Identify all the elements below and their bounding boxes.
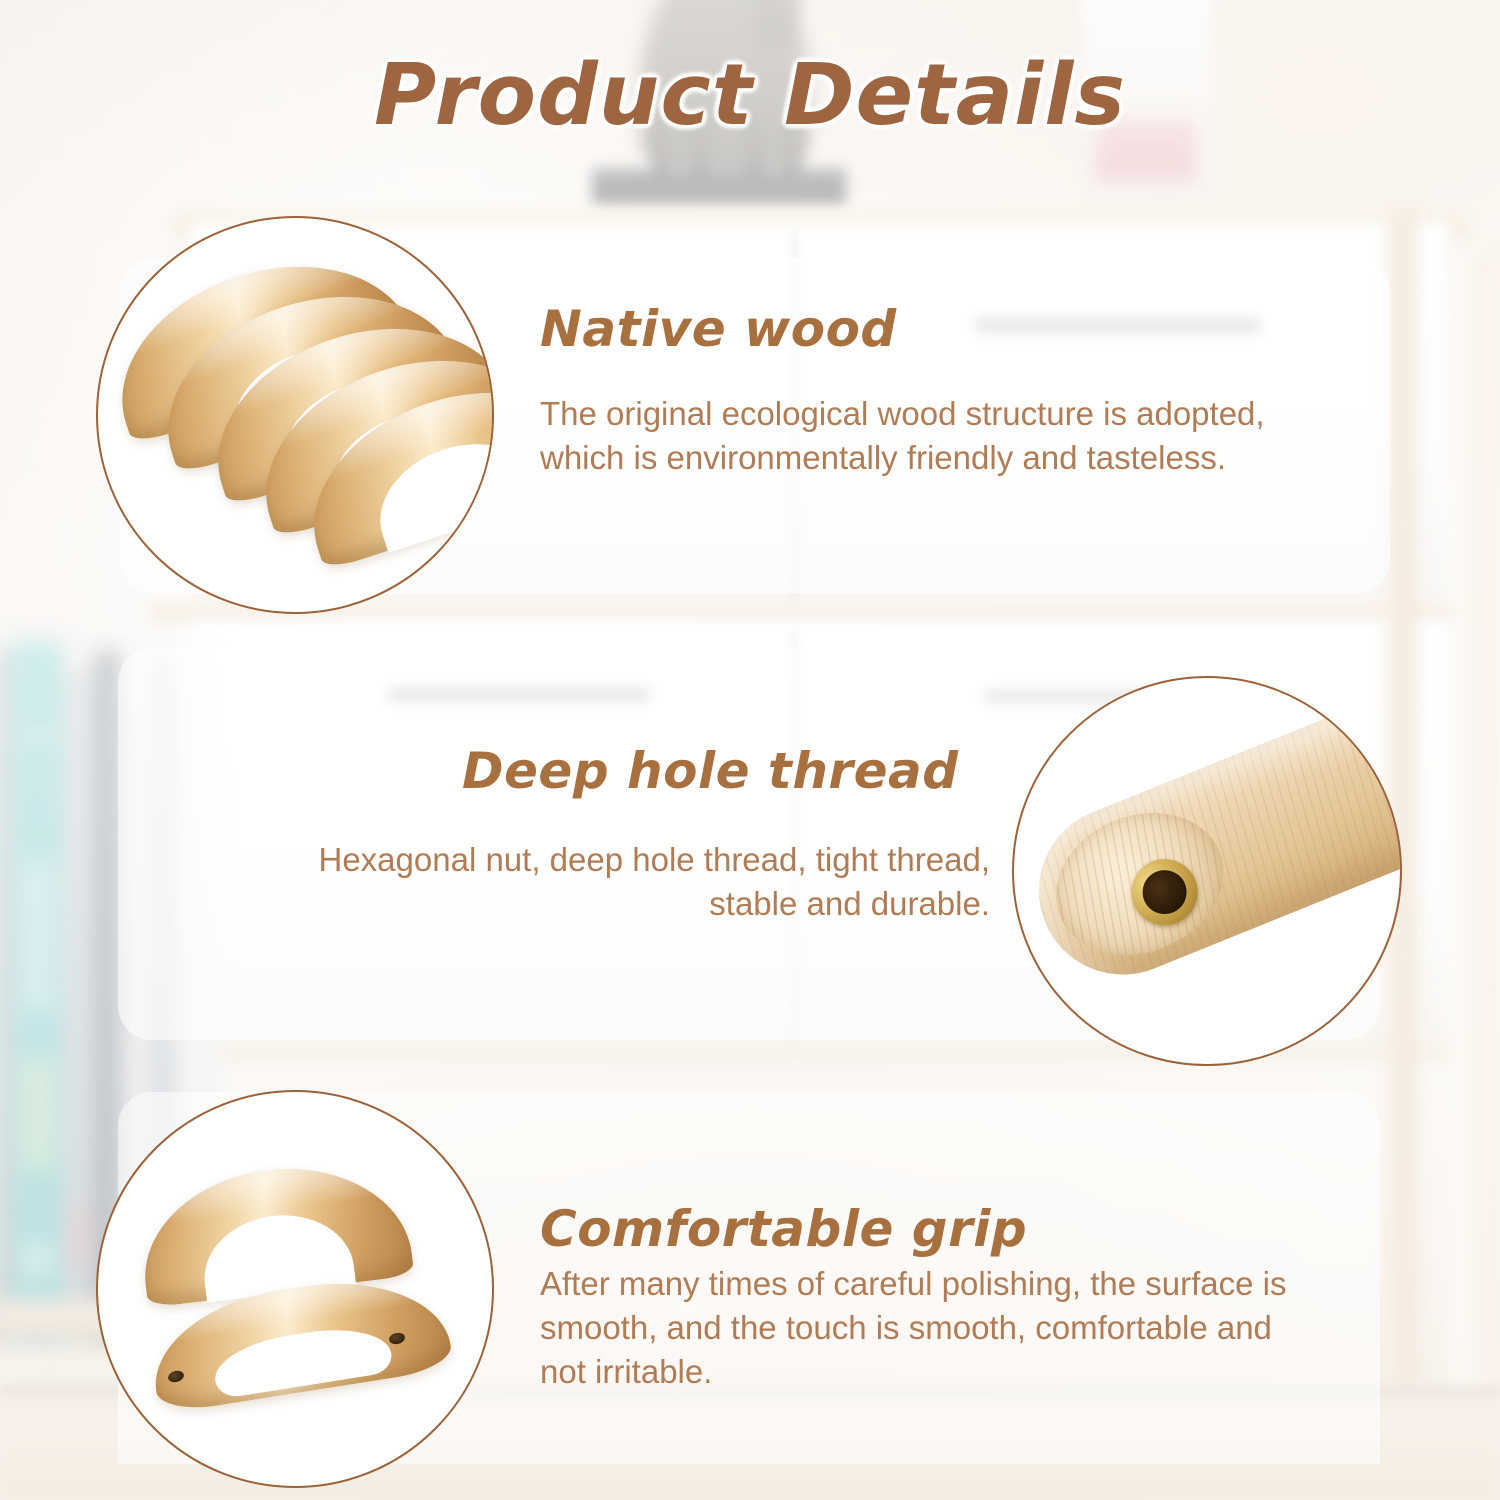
section-body-deep-hole-thread: Hexagonal nut, deep hole thread, tight t…	[290, 838, 990, 926]
brass-threaded-hole	[1122, 849, 1208, 935]
wood-handle-end-face	[1034, 789, 1244, 980]
product-photo-comfortable-grip	[96, 1090, 494, 1488]
section-heading-native-wood: Native wood	[540, 300, 897, 358]
product-photo-native-wood	[96, 216, 494, 614]
section-body-comfortable-grip: After many times of careful polishing, t…	[540, 1262, 1315, 1395]
product-photo-deep-hole-thread	[1012, 676, 1402, 1066]
page-title: Product Details	[0, 46, 1500, 145]
section-heading-comfortable-grip: Comfortable grip	[540, 1200, 1027, 1258]
wood-handle-shape	[134, 1154, 415, 1308]
section-body-native-wood: The original ecological wood structure i…	[540, 392, 1285, 480]
section-heading-deep-hole-thread: Deep hole thread	[462, 742, 959, 800]
